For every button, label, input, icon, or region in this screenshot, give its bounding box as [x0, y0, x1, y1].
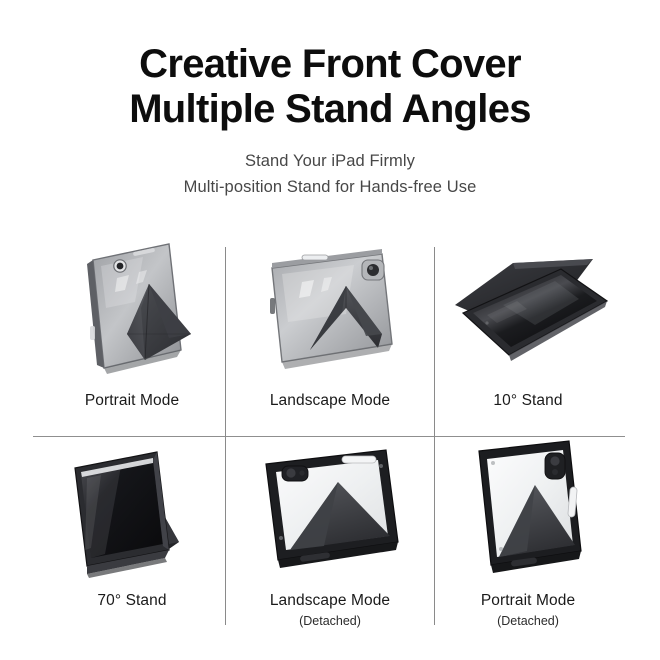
subtitle-line-1: Stand Your iPad Firmly [0, 148, 660, 175]
ipad-case-70-degree-stand-figure [33, 438, 231, 578]
cell-sub-caption: (Detached) [497, 614, 559, 628]
ipad-case-10-degree-stand-figure [429, 238, 627, 378]
grid-cell-10-degree-stand: 10° Stand [429, 232, 627, 426]
grid-cell-70-degree-stand: 70° Stand [33, 426, 231, 628]
grid-cell-portrait-detached: Portrait Mode (Detached) [429, 426, 627, 628]
grid-cell-landscape-mode: Landscape Mode [231, 232, 429, 426]
subtitle-group: Stand Your iPad Firmly Multi-position St… [0, 148, 660, 201]
page-title: Creative Front Cover Multiple Stand Angl… [0, 42, 660, 132]
headline-line-2: Multiple Stand Angles [0, 87, 660, 132]
grid-cell-portrait-mode: Portrait Mode [33, 232, 231, 426]
grid-cell-landscape-detached: Landscape Mode (Detached) [231, 426, 429, 628]
stand-modes-grid: Portrait Mode [33, 232, 627, 628]
ipad-case-landscape-detached-shell-figure [231, 438, 429, 578]
ipad-case-landscape-stand-back-figure [231, 238, 429, 378]
cell-caption: Landscape Mode [270, 392, 390, 410]
cell-sub-caption: (Detached) [299, 614, 361, 628]
cell-caption: 70° Stand [97, 592, 166, 610]
cell-caption: Landscape Mode [270, 592, 390, 610]
ipad-case-portrait-detached-shell-figure [429, 438, 627, 578]
cell-caption: Portrait Mode [85, 392, 179, 410]
cell-caption: 10° Stand [493, 392, 562, 410]
cell-caption: Portrait Mode [481, 592, 575, 610]
subtitle-line-2: Multi-position Stand for Hands-free Use [0, 174, 660, 201]
headline-line-1: Creative Front Cover [139, 42, 521, 86]
ipad-case-portrait-stand-back-figure [33, 238, 231, 378]
header: Creative Front Cover Multiple Stand Angl… [0, 0, 660, 201]
